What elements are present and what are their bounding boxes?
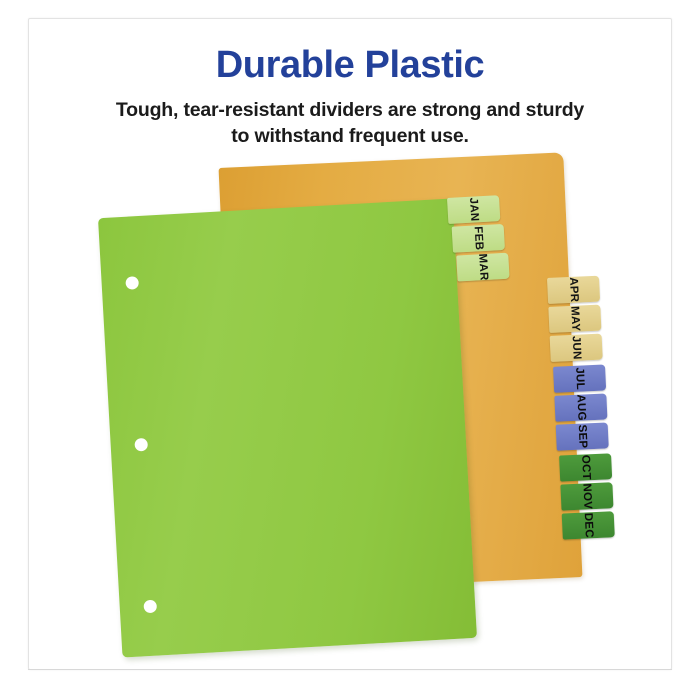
page-title: Durable Plastic (50, 46, 650, 86)
tab-label: FEB (472, 226, 485, 251)
page-subtitle: Tough, tear-resistant dividers are stron… (50, 98, 650, 149)
tab-feb[interactable]: FEB (452, 224, 505, 253)
tab-label: JUN (570, 336, 583, 360)
tab-label: JUL (573, 367, 586, 390)
tab-label: JAN (467, 197, 480, 222)
hole-punch-icon (143, 600, 157, 614)
tab-jun[interactable]: JUN (550, 334, 603, 362)
tab-label: AUG (574, 394, 587, 421)
hole-punch-icon (125, 276, 139, 290)
product-photo: APR MAY JUN JUL AUG SEP OCT NOV DEC JAN … (40, 150, 660, 650)
tab-mar[interactable]: MAR (456, 253, 509, 282)
product-feature-image: Durable Plastic Tough, tear-resistant di… (0, 0, 700, 700)
tab-label: NOV (580, 483, 593, 509)
subtitle-line-1: Tough, tear-resistant dividers are stron… (50, 98, 650, 124)
tab-label: SEP (576, 424, 589, 448)
tab-label: OCT (579, 455, 592, 481)
tab-may[interactable]: MAY (548, 305, 601, 333)
tab-oct[interactable]: OCT (559, 453, 612, 481)
tab-nov[interactable]: NOV (560, 482, 613, 510)
bottom-divider-rule (28, 669, 672, 670)
hole-punch-icon (134, 438, 148, 452)
tab-dec[interactable]: DEC (562, 511, 615, 539)
green-divider-sheet (98, 198, 477, 657)
tab-label: MAR (476, 253, 489, 281)
tab-label: APR (567, 277, 580, 303)
tab-jan[interactable]: JAN (447, 195, 500, 224)
headline-block: Durable Plastic Tough, tear-resistant di… (50, 46, 650, 149)
tab-label: MAY (568, 306, 581, 332)
subtitle-line-2: to withstand frequent use. (50, 124, 650, 150)
tab-label: DEC (582, 513, 595, 539)
tab-apr[interactable]: APR (547, 276, 600, 304)
left-edge-tab-group: JAN FEB MAR (447, 194, 524, 328)
tab-jul[interactable]: JUL (553, 364, 606, 392)
right-edge-tab-group: APR MAY JUN JUL AUG SEP OCT NOV DEC (547, 275, 631, 588)
tab-sep[interactable]: SEP (556, 422, 609, 450)
tab-aug[interactable]: AUG (554, 393, 607, 421)
